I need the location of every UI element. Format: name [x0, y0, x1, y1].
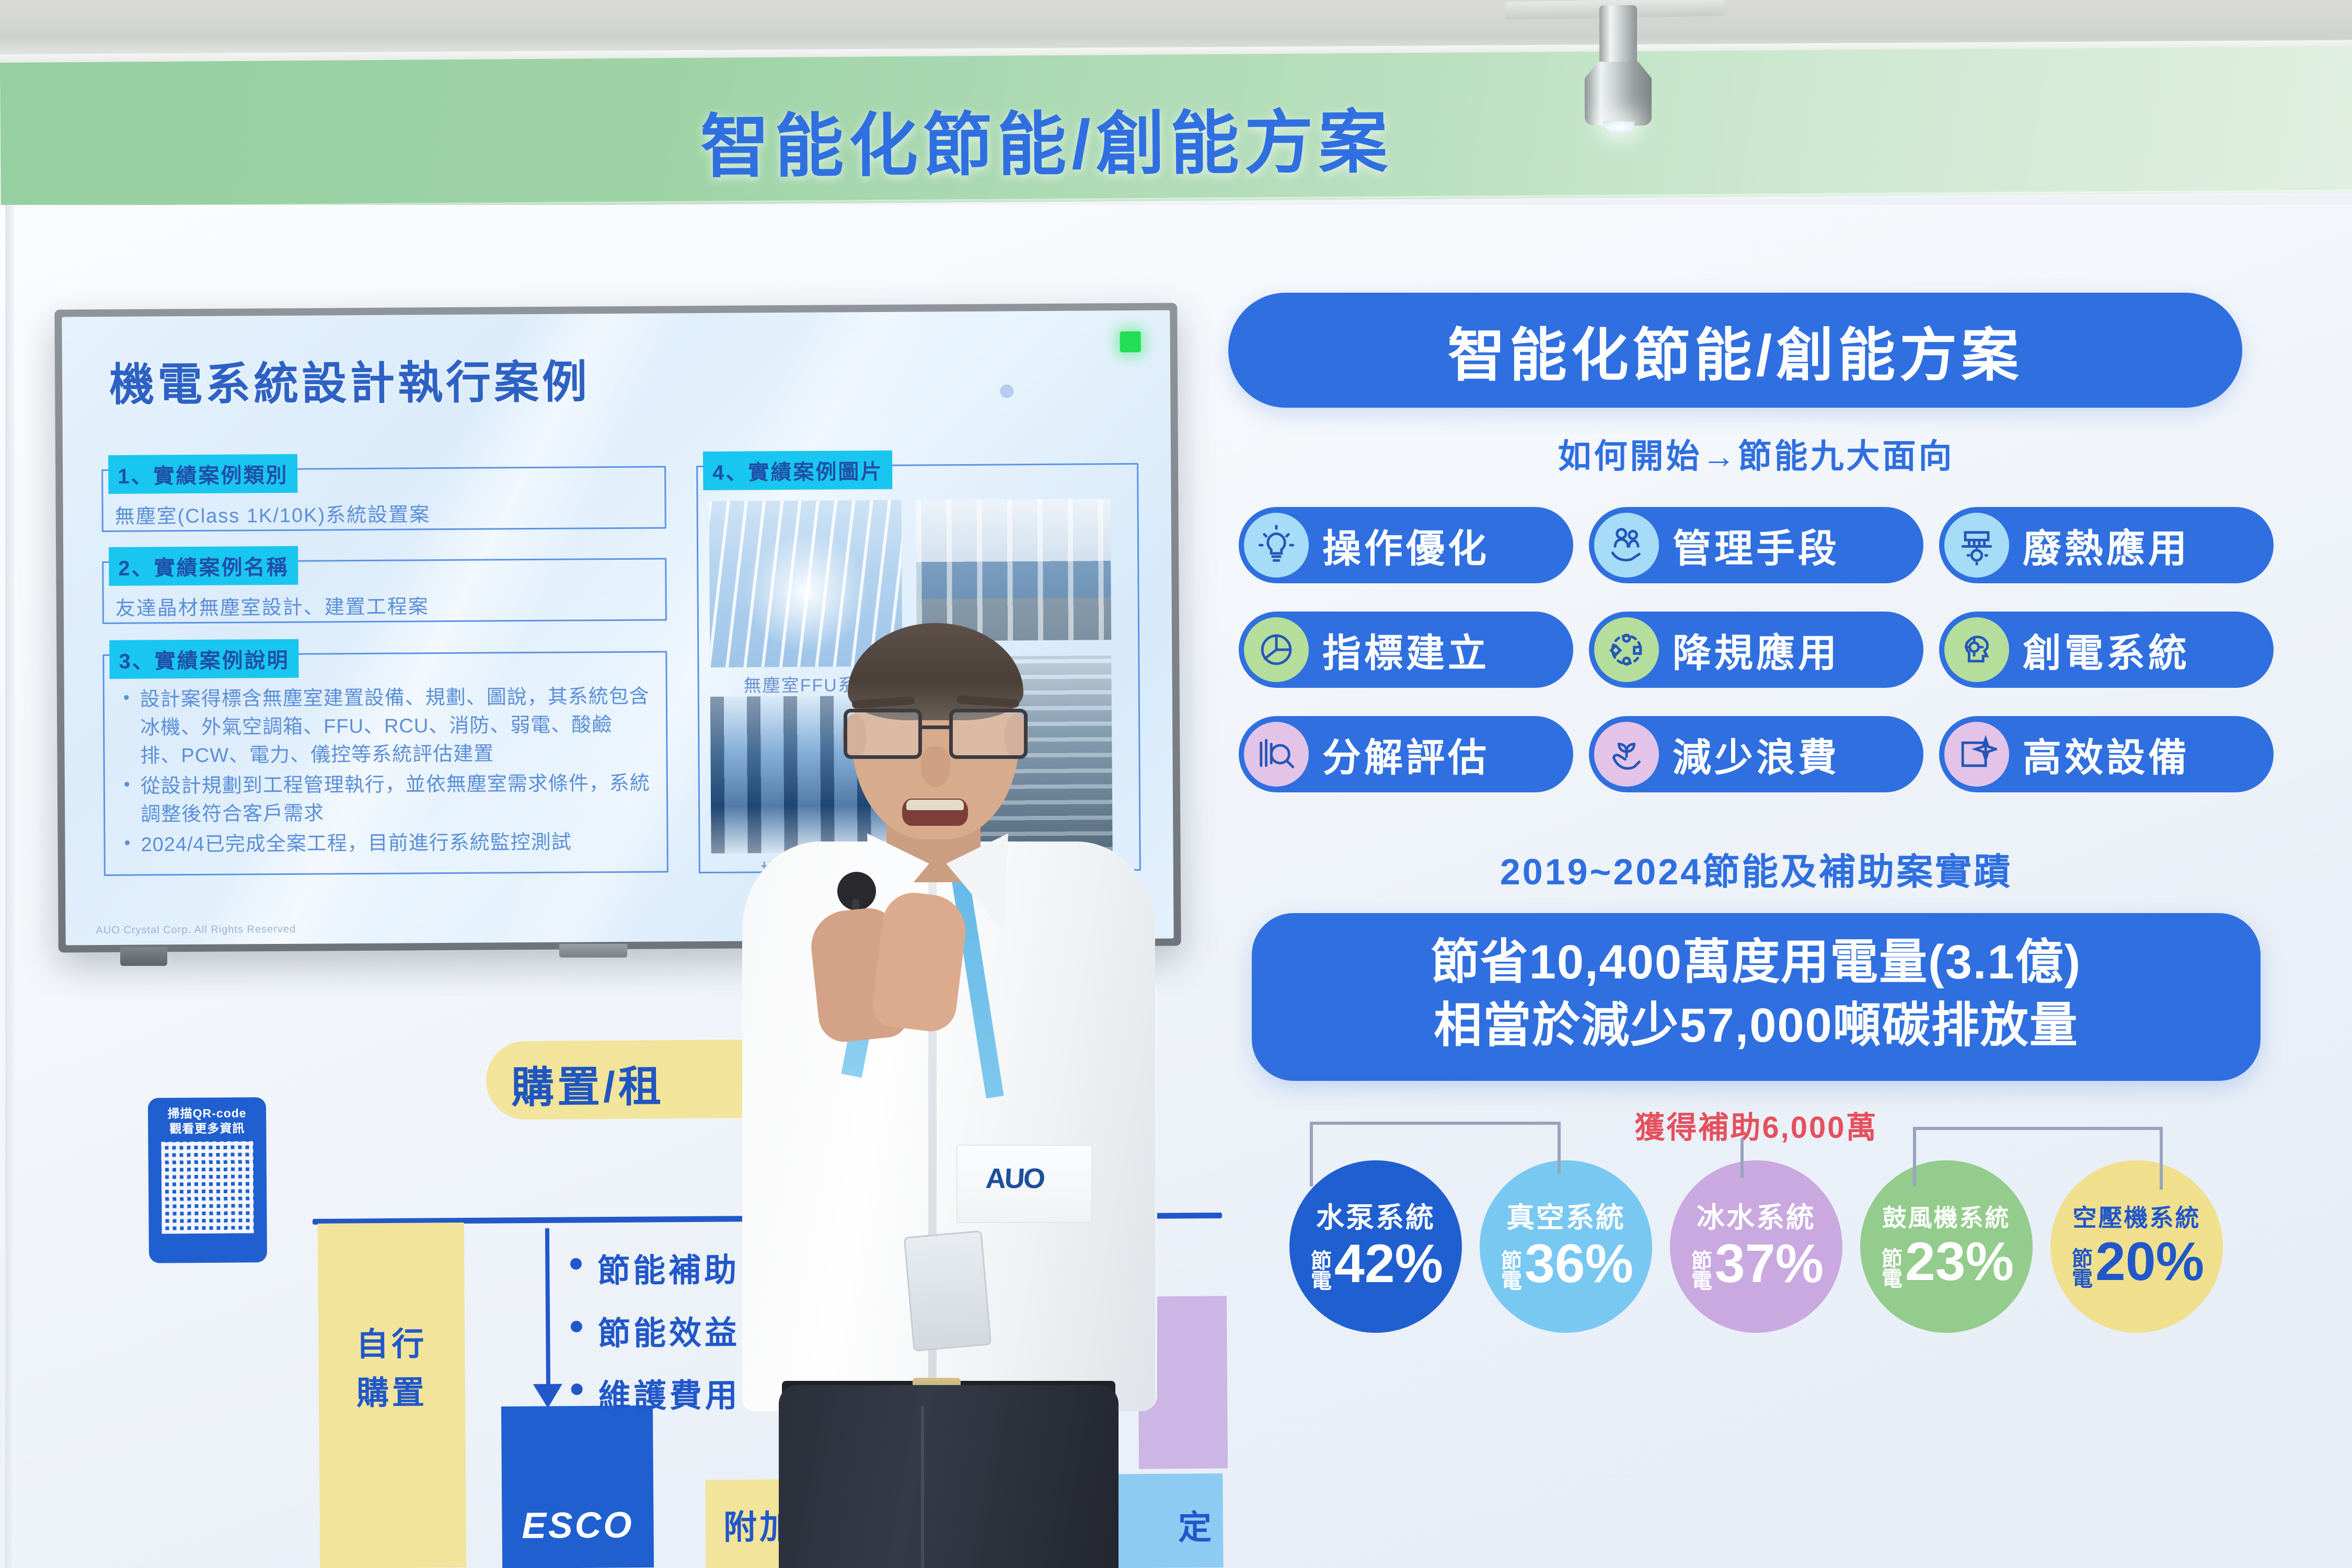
savings-circle-pump: 水泵系統 節電 42%	[1289, 1160, 1462, 1333]
aspect-pill-waste-heat[interactable]: 廢熱應用	[1939, 507, 2274, 583]
pie-chart-icon	[1244, 617, 1309, 682]
qr-caption-line2: 觀看更多資訊	[154, 1121, 260, 1136]
presenter-teeth	[906, 800, 964, 810]
savings-circle-vacuum: 真空系統 節電 36%	[1480, 1160, 1652, 1333]
slide-bullet: 從設計規劃到工程管理執行，並依無塵室需求條件，系統調整後符合客戶需求	[123, 769, 653, 829]
savings-circle-blower: 鼓風機系統 節電 23%	[1860, 1160, 2033, 1333]
aspect-label: 分解評估	[1322, 727, 1490, 782]
savings-system-name: 水泵系統	[1316, 1204, 1435, 1232]
aspect-label: 廢熱應用	[2023, 517, 2190, 573]
right-panel-subtitle: 如何開始→節能九大面向	[1213, 430, 2300, 478]
aspect-pill-downscale-application[interactable]: 降規應用	[1589, 612, 1923, 688]
presenter-id-badge	[904, 1230, 992, 1352]
savings-prefix: 節電	[2069, 1248, 2091, 1287]
display-stand-left	[120, 947, 167, 966]
power-led-icon	[1120, 331, 1141, 352]
slide-title: 機電系統設計執行案例	[109, 345, 591, 413]
achievement-line-2: 相當於減少57,000噸碳排放量	[1273, 994, 2240, 1057]
people-hand-icon	[1594, 513, 1659, 578]
savings-circle-chilled-water: 冰水系統 節電 37%	[1670, 1160, 1842, 1333]
section-4-tag: 4、實績案例圖片	[703, 451, 893, 490]
slide-section-3: 3、實績案例說明 設計案得標含無塵室建置設備、規劃、圖說，其系統包含冰機、外氣空…	[102, 651, 668, 876]
savings-value: 36%	[1525, 1239, 1633, 1289]
magnifier-icon	[1244, 722, 1309, 787]
savings-value: 42%	[1334, 1239, 1443, 1289]
savings-circle-row: 水泵系統 節電 42% 真空系統 節電 36% 冰水系統 節電 37%	[1213, 1160, 2300, 1333]
wall-seam	[5, 205, 15, 1568]
glasses-bridge	[922, 725, 949, 729]
slide-bullet: 設計案得標含無塵室建置設備、規劃、圖說，其系統包含冰機、外氣空調箱、FFU、RC…	[122, 683, 653, 771]
achievement-heading: 2019~2024節能及補助案實蹟	[1213, 843, 2300, 895]
qr-caption-line1: 掃描QR-code	[154, 1105, 260, 1121]
right-panel-title: 智能化節能/創能方案	[1448, 308, 2023, 392]
aspect-pill-power-generation[interactable]: 創電系統	[1939, 612, 2274, 688]
display-stand-right	[559, 944, 627, 958]
savings-system-name: 真空系統	[1506, 1204, 1625, 1232]
aspect-label: 降規應用	[1673, 622, 1840, 678]
aspect-label: 高效設備	[2023, 727, 2190, 782]
section-1-tag: 1、實績案例類別	[108, 454, 298, 494]
connector-stem-1	[1310, 1124, 1313, 1186]
savings-prefix: 節電	[1308, 1250, 1330, 1289]
aspect-pill-decomposition-assessment[interactable]: 分解評估	[1239, 716, 1573, 792]
aspect-label: 創電系統	[2023, 622, 2190, 678]
savings-prefix: 節電	[1689, 1250, 1711, 1289]
qr-code-icon	[161, 1141, 253, 1233]
connector-bar-1	[1310, 1122, 1561, 1125]
right-poster-panel: 智能化節能/創能方案 如何開始→節能九大面向 操作優化	[1213, 293, 2300, 1568]
auo-logo: AUO	[985, 1162, 1044, 1195]
savings-value: 23%	[1905, 1237, 2014, 1287]
trouser-crease	[921, 1406, 924, 1568]
savings-system-name: 冰水系統	[1697, 1204, 1816, 1232]
savings-system-name: 鼓風機系統	[1883, 1206, 2011, 1230]
poster-bar-esco-label: ESCO	[502, 1504, 654, 1547]
slide-section-2: 2、實績案例名稱 友達晶材無塵室設計、建置工程案	[102, 558, 667, 624]
slide-decor-dot	[1000, 384, 1013, 398]
presenter-person: AUO AUO	[695, 617, 1197, 1568]
presenter-nose	[921, 746, 950, 787]
aspect-label: 操作優化	[1322, 517, 1490, 573]
factory-gear-icon	[1944, 513, 2009, 578]
slide-bullet: 2024/4已完成全案工程，目前進行系統監控測試	[123, 828, 653, 859]
poster-down-arrow-head	[533, 1384, 562, 1408]
glasses-lens-left	[844, 709, 922, 759]
aspect-pill-management-method[interactable]: 管理手段	[1589, 507, 1923, 583]
spotlight-neck	[1599, 5, 1637, 68]
banner-title: 智能化節能/創能方案	[700, 84, 1693, 191]
presenter-hand-right	[870, 889, 970, 1034]
aspect-pill-reduce-waste[interactable]: 減少浪費	[1589, 716, 1923, 792]
section-3-bullets: 設計案得標含無塵室建置設備、規劃、圖說，其系統包含冰機、外氣空調箱、FFU、RC…	[104, 652, 666, 871]
purchase-lease-label: 購置/租	[511, 1052, 665, 1115]
savings-value: 37%	[1715, 1239, 1824, 1289]
network-icon	[1594, 617, 1659, 682]
connector-stem-3	[1740, 1138, 1744, 1178]
brain-gear-icon	[1944, 617, 2009, 682]
connector-stem-2	[1558, 1122, 1561, 1174]
savings-value: 20%	[2095, 1237, 2204, 1287]
qr-code-card[interactable]: 掃描QR-code 觀看更多資訊	[148, 1097, 267, 1263]
aspect-pill-indicator-setup[interactable]: 指標建立	[1239, 612, 1573, 688]
sparkle-box-icon	[1944, 722, 2009, 787]
savings-system-name: 空壓機系統	[2073, 1206, 2201, 1230]
slide-footer: AUO Crystal Corp. All Rights Reserved	[96, 924, 296, 937]
nine-aspects-grid: 操作優化 管理手段	[1213, 507, 2300, 792]
aspect-pill-high-efficiency-equipment[interactable]: 高效設備	[1939, 716, 2274, 792]
glasses-lens-right	[949, 709, 1028, 759]
leaf-hand-icon	[1594, 722, 1659, 787]
aspect-label: 管理手段	[1673, 517, 1840, 573]
connector-bar-2	[1913, 1127, 2163, 1130]
connector-stem-4	[1913, 1129, 1916, 1186]
connector-stem-5	[2160, 1127, 2163, 1190]
poster-bar-self-purchase: 自行購置	[318, 1223, 467, 1568]
subsidy-label: 獲得補助6,000萬	[1213, 1103, 2300, 1147]
section-3-tag: 3、實績案例說明	[109, 639, 299, 679]
savings-prefix: 節電	[1498, 1250, 1520, 1289]
section-2-tag: 2、實績案例名稱	[109, 546, 298, 586]
spotlight-head	[1585, 62, 1652, 125]
screenshot-stage: 智能化節能/創能方案 機電系統設計執行案例 1、實績案例類別 無塵室(Class…	[0, 0, 2352, 1568]
aspect-label: 指標建立	[1322, 622, 1490, 678]
slide-section-1: 1、實績案例類別 無塵室(Class 1K/10K)系統設置案	[101, 466, 666, 532]
presenter-trousers	[779, 1385, 1119, 1568]
achievement-box: 節省10,400萬度用電量(3.1億) 相當於減少57,000噸碳排放量	[1252, 913, 2261, 1081]
aspect-pill-operation-optimization[interactable]: 操作優化	[1239, 507, 1573, 583]
savings-prefix: 節電	[1879, 1248, 1901, 1287]
aspect-label: 減少浪費	[1673, 727, 1840, 782]
lightbulb-icon	[1244, 513, 1309, 578]
right-panel-title-pill: 智能化節能/創能方案	[1228, 293, 2242, 408]
poster-bar-self-purchase-label: 自行購置	[343, 1320, 440, 1417]
achievement-line-1: 節省10,400萬度用電量(3.1億)	[1273, 931, 2240, 994]
savings-circle-air-compressor: 空壓機系統 節電 20%	[2050, 1160, 2223, 1333]
